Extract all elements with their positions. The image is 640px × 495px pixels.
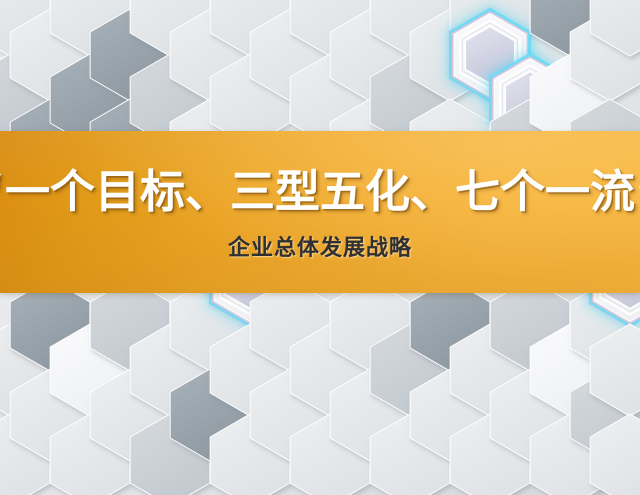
slide-subtitle: 企业总体发展战略	[228, 238, 412, 260]
slide-title: “一个目标、三型五化、七个一流”	[0, 169, 640, 214]
title-slide: “一个目标、三型五化、七个一流” 企业总体发展战略	[0, 0, 640, 495]
title-banner: “一个目标、三型五化、七个一流” 企业总体发展战略	[0, 131, 640, 293]
